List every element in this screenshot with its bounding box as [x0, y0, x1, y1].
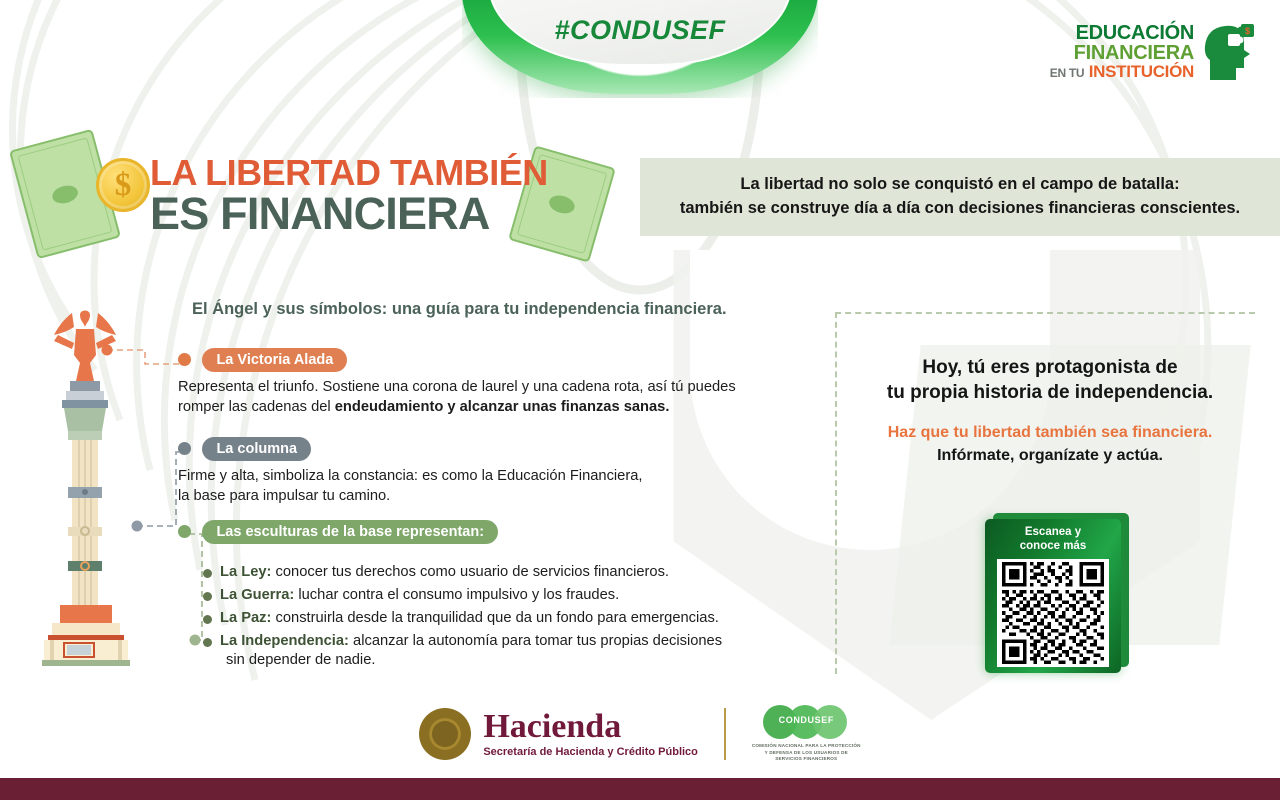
edu-logo-line2: FINANCIERA: [1050, 43, 1194, 63]
connector-esculturas: [185, 534, 202, 640]
mexican-eagle-seal-icon: [419, 708, 471, 760]
list-item: La Ley: conocer tus derechos como usuari…: [203, 563, 722, 583]
bullet-text: conocer tus derechos como usuario de ser…: [276, 564, 670, 580]
label-victoria-alada[interactable]: La Victoria Alada: [202, 348, 347, 372]
victoria-line2-plain: romper las cadenas del: [178, 399, 335, 415]
condusef-legend-line3: SERVICIOS FINANCIEROS: [752, 756, 861, 763]
section-heading: El Ángel y sus símbolos: una guía para t…: [192, 300, 727, 319]
quote-line2: también se construye día a día con decis…: [680, 199, 1240, 217]
head-puzzle-icon: $: [1200, 20, 1258, 82]
bottom-maroon-bar: [0, 778, 1280, 800]
cta-heading-line1: Hoy, tú eres protagonista de: [922, 357, 1177, 378]
info-block-victoria-alada: La Victoria Alada Representa el triunfo.…: [178, 348, 818, 418]
hashtag-text: #CONDUSEF: [554, 15, 725, 46]
bullet-text-cont: sin depender de nadie.: [220, 652, 375, 668]
hacienda-name: Hacienda: [483, 710, 698, 744]
infographic-poster: #CONDUSEF EDUCACIÓN FINANCIERA EN TU INS…: [0, 0, 1280, 800]
victoria-line1: Representa el triunfo. Sostiene una coro…: [178, 379, 736, 395]
connector-dot-esculturas: [190, 635, 201, 646]
headline-line2: ES FINANCIERA: [150, 192, 548, 236]
bullet-dot-esculturas: [178, 525, 191, 538]
esculturas-bullet-list: La Ley: conocer tus derechos como usuari…: [203, 563, 722, 674]
bullet-text: luchar contra el consumo impulsivo y los…: [298, 587, 619, 603]
connector-dot-columna: [132, 521, 143, 532]
list-bullet-icon: [203, 592, 212, 601]
body-columna: Firme y alta, simboliza la constancia: e…: [178, 467, 818, 507]
qr-title-line2: conoce más: [1020, 540, 1086, 552]
bullet-term: La Guerra:: [220, 587, 294, 603]
qr-card-title: Escanea y conoce más: [993, 526, 1113, 554]
info-block-columna: La columna Firme y alta, simboliza la co…: [178, 437, 818, 507]
qr-title-line1: Escanea y: [1025, 526, 1081, 538]
hacienda-words: Hacienda Secretaría de Hacienda y Crédit…: [483, 710, 698, 758]
bullet-term: La Independencia:: [220, 633, 349, 649]
footer-divider: [724, 708, 726, 760]
edu-logo-line3-big: INSTITUCIÓN: [1089, 62, 1194, 81]
cta-subtitle-orange: Haz que tu libertad también sea financie…: [865, 424, 1235, 442]
bullet-text: alcanzar la autonomía para tomar tus pro…: [353, 633, 722, 649]
connector-dot-victoria: [102, 345, 113, 356]
hacienda-subtitle: Secretaría de Hacienda y Crédito Público: [483, 746, 698, 758]
columna-line1: Firme y alta, simboliza la constancia: e…: [178, 468, 643, 484]
cta-subtitle-black: Infórmate, organízate y actúa.: [865, 447, 1235, 465]
victoria-line2-bold: endeudamiento y alcanzar unas finanzas s…: [335, 399, 670, 415]
condusef-legend-line2: Y DEFENSA DE LOS USUARIOS DE: [752, 750, 861, 757]
list-bullet-icon: [203, 615, 212, 624]
bullet-dot-columna: [178, 442, 191, 455]
pedestal-base: [42, 660, 130, 666]
bullet-text: construirla desde la tranquilidad que da…: [276, 610, 719, 626]
quote-banner: La libertad no solo se conquistó en el c…: [640, 158, 1280, 236]
bullet-term: La Ley:: [220, 564, 271, 580]
headline-line1: LA LIBERTAD TAMBIÉN: [150, 155, 548, 190]
columna-line2: la base para impulsar tu camino.: [178, 488, 390, 504]
edu-logo-line3: EN TU INSTITUCIÓN: [1050, 63, 1194, 80]
bullet-term: La Paz:: [220, 610, 271, 626]
main-headline: LA LIBERTAD TAMBIÉN ES FINANCIERA: [150, 155, 548, 236]
quote-line1: La libertad no solo se conquistó en el c…: [740, 175, 1179, 193]
qr-card-front: Escanea y conoce más: [985, 519, 1121, 673]
condusef-circles-icon: CONDUSEF: [763, 705, 849, 739]
condusef-footer-logo: CONDUSEF COMISIÓN NACIONAL PARA LA PROTE…: [752, 705, 861, 764]
footer-logos: Hacienda Secretaría de Hacienda y Crédit…: [0, 694, 1280, 774]
list-bullet-icon: [203, 638, 212, 647]
condusef-name: CONDUSEF: [763, 715, 849, 725]
info-block-esculturas: Las esculturas de la base representan:: [178, 520, 498, 544]
edu-logo-line1: EDUCACIÓN: [1050, 23, 1194, 43]
cta-heading-line2: tu propia historia de independencia.: [887, 382, 1213, 403]
bullet-dot-victoria: [178, 353, 191, 366]
condusef-legend-line1: COMISIÓN NACIONAL PARA LA PROTECCIÓN: [752, 743, 861, 750]
list-item: La Independencia: alcanzar la autonomía …: [203, 632, 722, 672]
svg-text:$: $: [1245, 26, 1250, 36]
list-item: La Paz: construirla desde la tranquilida…: [203, 609, 722, 629]
list-item: La Guerra: luchar contra el consumo impu…: [203, 586, 722, 606]
label-esculturas[interactable]: Las esculturas de la base representan:: [202, 520, 498, 544]
cta-heading: Hoy, tú eres protagonista de tu propia h…: [865, 355, 1235, 406]
hacienda-logo: Hacienda Secretaría de Hacienda y Crédit…: [419, 708, 698, 760]
list-bullet-icon: [203, 569, 212, 578]
edu-logo-words: EDUCACIÓN FINANCIERA EN TU INSTITUCIÓN: [1050, 23, 1194, 80]
body-victoria-alada: Representa el triunfo. Sostiene una coro…: [178, 378, 818, 418]
edu-logo-line3-small: EN TU: [1050, 66, 1085, 80]
connector-victoria: [107, 350, 185, 364]
qr-matrix: [1000, 562, 1106, 664]
coin-icon: $: [96, 158, 150, 212]
label-columna[interactable]: La columna: [202, 437, 311, 461]
condusef-legend: COMISIÓN NACIONAL PARA LA PROTECCIÓN Y D…: [752, 743, 861, 764]
educacion-financiera-logo: EDUCACIÓN FINANCIERA EN TU INSTITUCIÓN $: [1050, 20, 1258, 82]
qr-scan-card[interactable]: Escanea y conoce más: [985, 513, 1135, 673]
quote-banner-text: La libertad no solo se conquistó en el c…: [680, 173, 1240, 221]
condusef-hashtag-badge: #CONDUSEF: [462, 0, 818, 98]
qr-code-icon[interactable]: [997, 559, 1109, 667]
